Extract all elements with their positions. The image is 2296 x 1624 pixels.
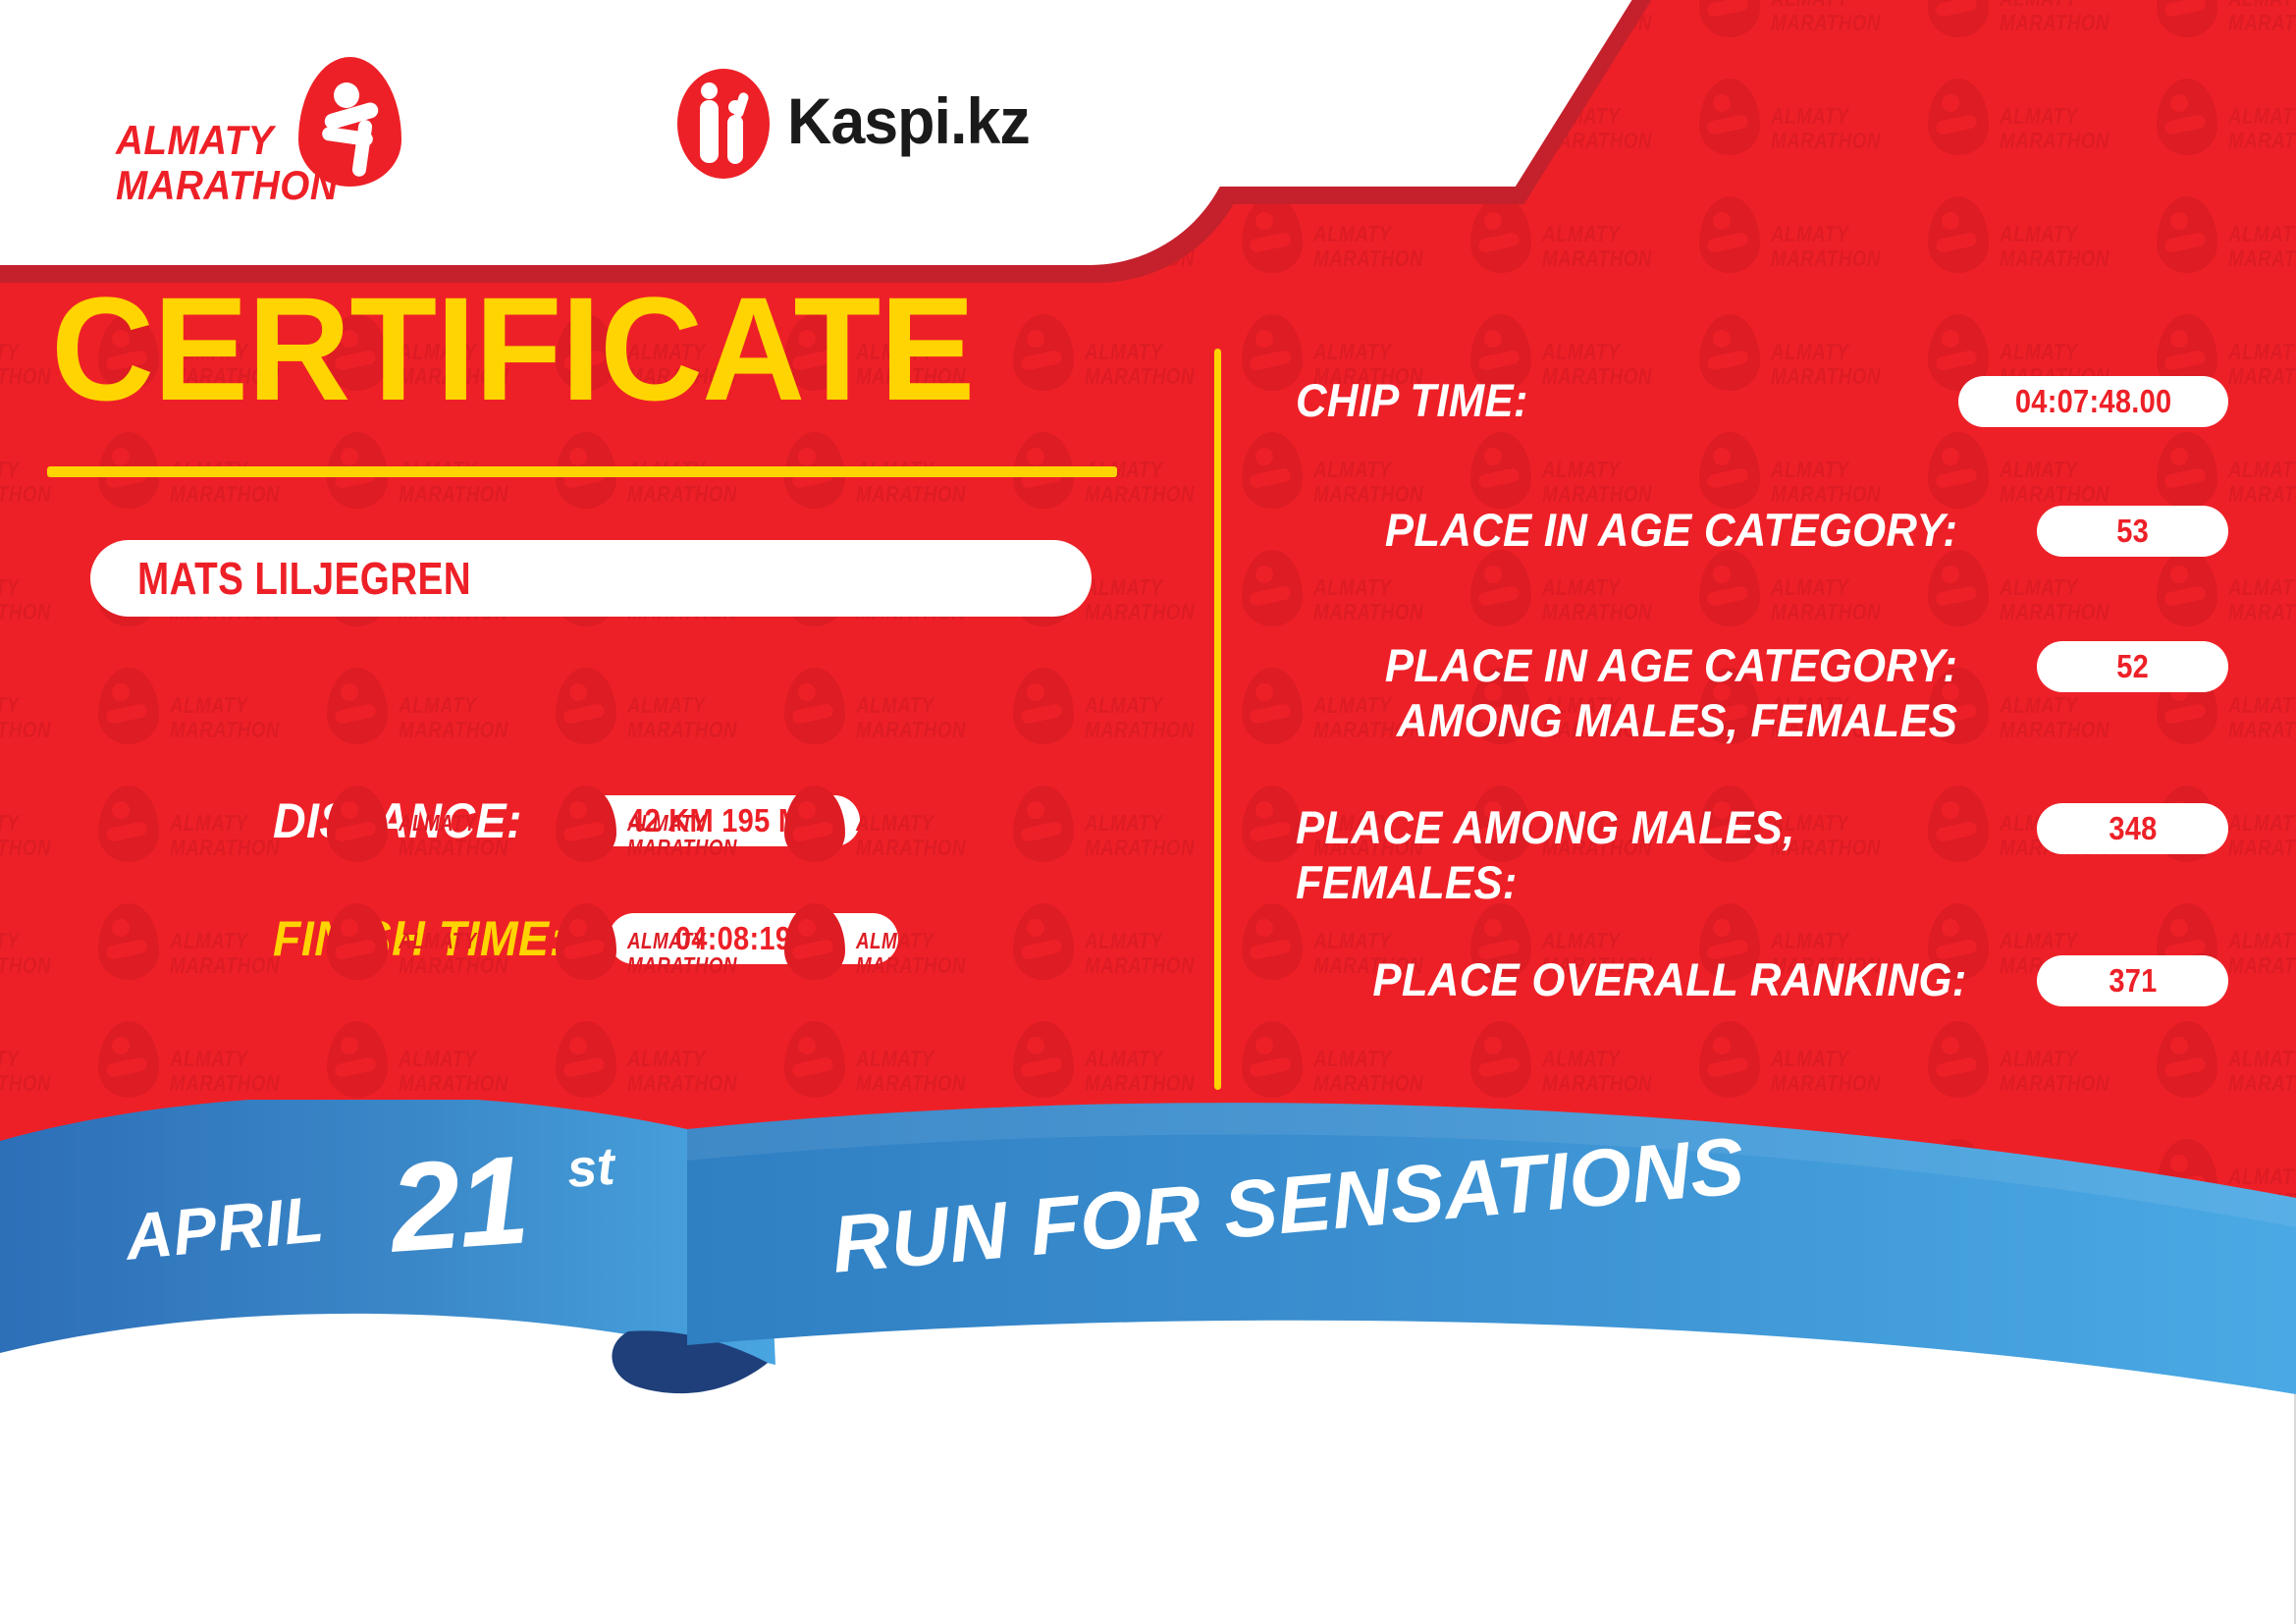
stat-row-place-age-category-gender: PLACE IN AGE CATEGORY: AMONG MALES, FEMA… (1296, 638, 2228, 748)
watermark-text: ALMATY MARATHON (399, 458, 508, 507)
watermark-text: ALMATY MARATHON (170, 811, 280, 860)
watermark-text: ALMATY MARATHON (2228, 693, 2296, 742)
watermark-runner-drop-icon (556, 668, 616, 744)
watermark-tile: ALMATY MARATHON (1085, 785, 1310, 903)
watermark-text: ALMATY MARATHON (2000, 222, 2109, 271)
watermark-tile: ALMATY MARATHON (399, 432, 624, 550)
watermark-text: ALMATY MARATHON (0, 929, 51, 978)
almaty-logo-line2: MARATHON (116, 162, 338, 208)
watermark-text: ALMATY MARATHON (856, 1047, 966, 1096)
almaty-marathon-logo-text: ALMATYMARATHON (116, 118, 338, 208)
watermark-runner-drop-icon (1470, 196, 1531, 273)
watermark-text: ALMATY MARATHON (1771, 1164, 1881, 1214)
stat-row-place-among-gender: PLACE AMONG MALES, FEMALES: 348 (1296, 800, 2228, 910)
watermark-text: ALMATY MARATHON (1771, 0, 1881, 35)
ribbon-ordinal-suffix: st (565, 1136, 616, 1200)
watermark-runner-drop-icon (1928, 196, 1989, 273)
watermark-text: ALMATY MARATHON (2228, 0, 2296, 35)
watermark-runner-drop-icon (1013, 785, 1074, 862)
stat-row-distance: DISTANCE: 42 KM 195 M (273, 795, 860, 846)
watermark-text: ALMATY MARATHON (1542, 458, 1652, 507)
watermark-runner-drop-icon (1470, 550, 1531, 626)
watermark-text: ALMATY MARATHON (2000, 0, 2109, 35)
watermark-text: ALMATY MARATHON (2228, 575, 2296, 624)
watermark-tile: ALMATY MARATHON (1085, 550, 1310, 668)
watermark-tile: ALMATY MARATHON (1771, 79, 1997, 196)
watermark-text: ALMATY MARATHON (0, 693, 51, 742)
watermark-tile: ALMATY MARATHON (1313, 1257, 1539, 1306)
watermark-runner-drop-icon (1470, 432, 1531, 509)
watermark-tile: ALMATY MARATHON (1085, 1021, 1310, 1139)
watermark-runner-drop-icon (2157, 1021, 2217, 1098)
place-overall-value-pill: 371 (2037, 955, 2228, 1006)
stat-row-place-age-category: PLACE IN AGE CATEGORY: 53 (1296, 503, 2228, 558)
watermark-text: ALMATY MARATHON (1085, 811, 1195, 860)
watermark-runner-drop-icon (2157, 432, 2217, 509)
watermark-runner-drop-icon (327, 668, 388, 744)
watermark-text: ALMATY MARATHON (1771, 458, 1881, 507)
watermark-runner-drop-icon (1242, 1257, 1303, 1306)
watermark-text: ALMATY MARATHON (1313, 575, 1423, 624)
watermark-text: ALMATY MARATHON (1085, 340, 1195, 389)
place-among-gender-value: 348 (2109, 810, 2157, 847)
watermark-tile: ALMATY MARATHON (1085, 903, 1310, 1021)
watermark-text: ALMATY MARATHON (1542, 575, 1652, 624)
watermark-runner-drop-icon (1242, 785, 1303, 862)
kaspi-people-icon (677, 69, 770, 179)
watermark-tile: ALMATY MARATHON (170, 668, 396, 785)
watermark-runner-drop-icon (98, 1021, 159, 1098)
watermark-text: ALMATY MARATHON (399, 693, 508, 742)
watermark-runner-drop-icon (1242, 432, 1303, 509)
watermark-tile: ALMATY MARATHON (2000, 196, 2225, 314)
watermark-text: ALMATY MARATHON (2228, 340, 2296, 389)
watermark-text: ALMATY MARATHON (1771, 1282, 1881, 1306)
watermark-text: ALMATY MARATHON (0, 458, 51, 507)
watermark-text: ALMATY MARATHON (2228, 811, 2296, 860)
watermark-text: ALMATY MARATHON (2228, 1282, 2296, 1306)
watermark-tile: ALMATY MARATHON (2228, 0, 2296, 79)
watermark-text: ALMATY MARATHON (0, 575, 51, 624)
watermark-text: ALMATY MARATHON (2000, 458, 2109, 507)
watermark-tile: ALMATY MARATHON (1771, 1021, 1997, 1139)
watermark-tile: ALMATY MARATHON (2228, 196, 2296, 314)
place-age-category-gender-label: PLACE IN AGE CATEGORY: AMONG MALES, FEMA… (1296, 638, 1985, 748)
stat-row-finish-time: FINISH TIME: 04:08:19.00 (273, 913, 898, 964)
sponsor-strip (0, 1394, 2296, 1624)
watermark-text: ALMATY MARATHON (1771, 575, 1881, 624)
place-overall-label: PLACE OVERALL RANKING: (1296, 952, 1985, 1007)
watermark-text: ALMATY MARATHON (1313, 222, 1423, 271)
watermark-tile: ALMATY MARATHON (627, 1139, 853, 1257)
watermark-runner-drop-icon (2157, 0, 2217, 37)
watermark-text: ALMATY MARATHON (2000, 575, 2109, 624)
watermark-text: ALMATY MARATHON (170, 693, 280, 742)
watermark-tile: ALMATY MARATHON (2228, 550, 2296, 668)
watermark-tile: ALMATY MARATHON (2000, 0, 2225, 79)
place-among-gender-value-pill: 348 (2037, 803, 2228, 854)
watermark-runner-drop-icon (1928, 1257, 1989, 1306)
watermark-text: ALMATY MARATHON (0, 811, 51, 860)
watermark-tile: ALMATY MARATHON (1771, 196, 1997, 314)
watermark-runner-drop-icon (1928, 1021, 1989, 1098)
watermark-runner-drop-icon (1928, 79, 1989, 155)
chip-time-value: 04:07:48.00 (2015, 383, 2172, 420)
distance-label: DISTANCE: (273, 795, 522, 846)
watermark-tile: ALMATY MARATHON (1085, 432, 1310, 550)
watermark-text: ALMATY MARATHON (1085, 1047, 1195, 1096)
finish-time-value-pill: 04:08:19.00 (609, 913, 898, 964)
watermark-tile: ALMATY MARATHON (1771, 0, 1997, 79)
title-underline (47, 466, 1117, 477)
watermark-text: ALMATY MARATHON (0, 1164, 51, 1214)
watermark-runner-drop-icon (1928, 0, 1989, 37)
watermark-tile: ALMATY MARATHON (627, 432, 853, 550)
watermark-text: ALMATY MARATHON (627, 458, 737, 507)
watermark-text: ALMATY MARATHON (2228, 222, 2296, 271)
watermark-runner-drop-icon (98, 903, 159, 980)
watermark-runner-drop-icon (1699, 432, 1760, 509)
watermark-tile: ALMATY MARATHON (856, 1021, 1082, 1139)
watermark-runner-drop-icon (327, 1021, 388, 1098)
watermark-text: ALMATY MARATHON (627, 1047, 737, 1096)
watermark-text: ALMATY MARATHON (2228, 929, 2296, 978)
watermark-runner-drop-icon (1699, 1021, 1760, 1098)
watermark-text: ALMATY MARATHON (2000, 1164, 2109, 1214)
watermark-tile: ALMATY MARATHON (0, 432, 167, 550)
watermark-tile: ALMATY MARATHON (0, 668, 167, 785)
watermark-runner-drop-icon (1242, 314, 1303, 391)
watermark-text: ALMATY MARATHON (1542, 1282, 1652, 1306)
watermark-tile: ALMATY MARATHON (2228, 785, 2296, 903)
watermark-tile: ALMATY MARATHON (2228, 79, 2296, 196)
ribbon-day: 21 (386, 1128, 531, 1281)
watermark-runner-drop-icon (1699, 1257, 1760, 1306)
watermark-runner-drop-icon (2157, 1139, 2217, 1216)
place-among-gender-label: PLACE AMONG MALES, FEMALES: (1296, 800, 1985, 910)
header-logos: ALMATYMARATHON Kaspi.kz (0, 0, 1276, 265)
watermark-tile: ALMATY MARATHON (1313, 1021, 1539, 1139)
watermark-tile: ALMATY MARATHON (1542, 1257, 1768, 1306)
page-title: CERTIFICATE (51, 275, 974, 422)
watermark-text: ALMATY MARATHON (1542, 222, 1652, 271)
watermark-text: ALMATY MARATHON (856, 458, 966, 507)
watermark-text: ALMATY MARATHON (1771, 1047, 1881, 1096)
certificate-canvas: ALMATY MARATHONALMATY MARATHONALMATY MAR… (0, 0, 2296, 1624)
watermark-tile: ALMATY MARATHON (856, 668, 1082, 785)
watermark-tile: ALMATY MARATHON (399, 668, 624, 785)
watermark-tile: ALMATY MARATHON (1771, 1139, 1997, 1257)
almaty-logo-line1: ALMATY (116, 117, 274, 163)
watermark-text: ALMATY MARATHON (0, 1282, 51, 1306)
watermark-runner-drop-icon (1242, 550, 1303, 626)
watermark-tile: ALMATY MARATHON (2000, 1257, 2225, 1306)
participant-name-value: MATS LILJEGREN (137, 552, 471, 605)
watermark-runner-drop-icon (98, 668, 159, 744)
watermark-tile: ALMATY MARATHON (856, 432, 1082, 550)
watermark-runner-drop-icon (2157, 550, 2217, 626)
watermark-text: ALMATY MARATHON (2228, 1164, 2296, 1214)
watermark-text: ALMATY MARATHON (2000, 104, 2109, 153)
watermark-runner-drop-icon (1699, 0, 1760, 37)
watermark-runner-drop-icon (98, 785, 159, 862)
watermark-runner-drop-icon (784, 1021, 845, 1098)
watermark-tile: ALMATY MARATHON (1542, 196, 1768, 314)
watermark-text: ALMATY MARATHON (1313, 458, 1423, 507)
place-age-category-value: 53 (2116, 513, 2149, 550)
finish-time-label: FINISH TIME: (273, 913, 564, 964)
watermark-tile: ALMATY MARATHON (2000, 1139, 2225, 1257)
watermark-text: ALMATY MARATHON (170, 929, 280, 978)
watermark-text: ALMATY MARATHON (170, 1282, 280, 1306)
watermark-text: ALMATY MARATHON (2228, 1047, 2296, 1096)
watermark-tile: ALMATY MARATHON (2228, 432, 2296, 550)
participant-name-field: MATS LILJEGREN (90, 540, 1092, 617)
watermark-tile: ALMATY MARATHON (627, 668, 853, 785)
watermark-text: ALMATY MARATHON (1771, 104, 1881, 153)
watermark-tile: ALMATY MARATHON (170, 432, 396, 550)
watermark-text: ALMATY MARATHON (2000, 1047, 2109, 1096)
watermark-text: ALMATY MARATHON (1085, 929, 1195, 978)
watermark-tile: ALMATY MARATHON (170, 1021, 396, 1139)
watermark-runner-drop-icon (1699, 79, 1760, 155)
watermark-runner-drop-icon (1242, 1021, 1303, 1098)
watermark-runner-drop-icon (1928, 432, 1989, 509)
watermark-text: ALMATY MARATHON (1085, 1282, 1195, 1306)
watermark-runner-drop-icon (1470, 1257, 1531, 1306)
watermark-text: ALMATY MARATHON (399, 1282, 508, 1306)
distance-value: 42 KM 195 M (628, 802, 802, 839)
watermark-tile: ALMATY MARATHON (1771, 1257, 1997, 1306)
watermark-text: ALMATY MARATHON (2228, 104, 2296, 153)
watermark-runner-drop-icon (2157, 79, 2217, 155)
watermark-runner-drop-icon (327, 1139, 388, 1216)
watermark-text: ALMATY MARATHON (627, 1164, 737, 1214)
place-age-category-label: PLACE IN AGE CATEGORY: (1296, 503, 1985, 558)
chip-time-label: CHIP TIME: (1296, 373, 1912, 428)
watermark-tile: ALMATY MARATHON (2228, 314, 2296, 432)
watermark-runner-drop-icon (1242, 903, 1303, 980)
watermark-runner-drop-icon (1242, 668, 1303, 744)
watermark-runner-drop-icon (556, 1021, 616, 1098)
watermark-tile: ALMATY MARATHON (856, 785, 1082, 903)
watermark-text: ALMATY MARATHON (0, 1047, 51, 1096)
watermark-tile: ALMATY MARATHON (2000, 79, 2225, 196)
watermark-text: ALMATY MARATHON (627, 1282, 737, 1306)
watermark-text: ALMATY MARATHON (1313, 1282, 1423, 1306)
watermark-text: ALMATY MARATHON (856, 693, 966, 742)
stat-row-chip-time: CHIP TIME: 04:07:48.00 (1296, 373, 2228, 428)
watermark-tile: ALMATY MARATHON (627, 1021, 853, 1139)
watermark-tile: ALMATY MARATHON (0, 903, 167, 1021)
watermark-text: ALMATY MARATHON (170, 458, 280, 507)
watermark-text: ALMATY MARATHON (1085, 575, 1195, 624)
watermark-tile: ALMATY MARATHON (2000, 1021, 2225, 1139)
chip-time-value-pill: 04:07:48.00 (1958, 376, 2228, 427)
watermark-tile: ALMATY MARATHON (399, 1021, 624, 1139)
watermark-text: ALMATY MARATHON (1313, 1047, 1423, 1096)
watermark-text: ALMATY MARATHON (1542, 1047, 1652, 1096)
watermark-text: ALMATY MARATHON (399, 1047, 508, 1096)
watermark-text: ALMATY MARATHON (1771, 222, 1881, 271)
watermark-runner-drop-icon (2157, 196, 2217, 273)
watermark-tile: ALMATY MARATHON (2228, 903, 2296, 1021)
watermark-runner-drop-icon (1013, 668, 1074, 744)
watermark-tile: ALMATY MARATHON (0, 1021, 167, 1139)
place-age-category-value-pill: 53 (2037, 506, 2228, 557)
kaspi-logo: Kaspi.kz (677, 69, 1090, 187)
watermark-runner-drop-icon (1470, 1021, 1531, 1098)
watermark-tile: ALMATY MARATHON (1313, 196, 1539, 314)
watermark-text: ALMATY MARATHON (856, 811, 966, 860)
watermark-runner-drop-icon (1928, 1139, 1989, 1216)
watermark-runner-drop-icon (327, 1257, 388, 1306)
kaspi-logo-text: Kaspi.kz (787, 86, 1030, 155)
watermark-text: ALMATY MARATHON (1085, 458, 1195, 507)
stat-row-place-overall: PLACE OVERALL RANKING: 371 (1296, 952, 2228, 1007)
watermark-text: ALMATY MARATHON (0, 340, 51, 389)
watermark-runner-drop-icon (1013, 1021, 1074, 1098)
watermark-runner-drop-icon (784, 668, 845, 744)
watermark-runner-drop-icon (1928, 550, 1989, 626)
watermark-runner-drop-icon (556, 1257, 616, 1306)
watermark-tile: ALMATY MARATHON (0, 785, 167, 903)
watermark-tile: ALMATY MARATHON (627, 1257, 853, 1306)
watermark-text: ALMATY MARATHON (627, 693, 737, 742)
place-age-category-gender-value: 52 (2116, 648, 2149, 685)
watermark-text: ALMATY MARATHON (1085, 693, 1195, 742)
distance-value-pill: 42 KM 195 M (570, 795, 860, 846)
watermark-runner-drop-icon (2157, 1257, 2217, 1306)
place-age-category-gender-value-pill: 52 (2037, 641, 2228, 692)
watermark-text: ALMATY MARATHON (2000, 1282, 2109, 1306)
watermark-text: ALMATY MARATHON (2228, 458, 2296, 507)
watermark-tile: ALMATY MARATHON (2228, 1021, 2296, 1139)
watermark-runner-drop-icon (1013, 903, 1074, 980)
place-overall-value: 371 (2109, 962, 2157, 1000)
watermark-tile: ALMATY MARATHON (2228, 1257, 2296, 1306)
watermark-runner-drop-icon (1013, 314, 1074, 391)
watermark-runner-drop-icon (1699, 196, 1760, 273)
vertical-divider (1214, 349, 1221, 1090)
watermark-text: ALMATY MARATHON (170, 1047, 280, 1096)
watermark-tile: ALMATY MARATHON (1085, 314, 1310, 432)
watermark-runner-drop-icon (1699, 550, 1760, 626)
watermark-tile: ALMATY MARATHON (2228, 1139, 2296, 1257)
watermark-tile: ALMATY MARATHON (1085, 668, 1310, 785)
almaty-marathon-logo: ALMATYMARATHON (116, 61, 440, 198)
finish-time-value: 04:08:19.00 (675, 920, 832, 957)
watermark-tile: ALMATY MARATHON (2228, 668, 2296, 785)
